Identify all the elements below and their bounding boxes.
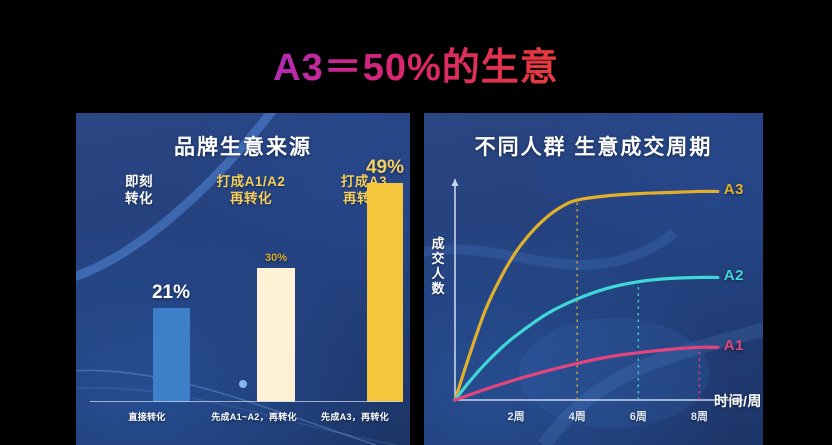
category-header-0: 即刻 转化 [94,173,184,207]
x-tick-2-weeks: 2周 [491,408,541,424]
right-panel-title: 不同人群 生意成交周期 [424,131,763,161]
left-chart-panel: 品牌生意来源 即刻 转化 打成A1/A2 再转化 打成A3 再转化 21% 30… [76,113,410,445]
x-tick-8-weeks: 8周 [674,408,724,424]
x-tick-6-weeks: 6周 [613,408,663,424]
category-header-1: 打成A1/A2 再转化 [186,173,316,207]
x-tick-4-weeks: 4周 [552,408,602,424]
series-label-a2: A2 [724,267,744,284]
y-axis-title: 成 交 人 数 [429,236,447,296]
y-axis-char-2: 人 [429,266,447,281]
y-axis-char-0: 成 [429,236,447,251]
decorative-swoosh-right [424,113,763,445]
right-chart-panel: 不同人群 生意成交周期 [424,113,763,445]
slide-canvas: A3＝50%的生意 品牌生意来源 即刻 转化 打成A1/A2 再转化 打成A3 … [0,0,832,445]
page-title: A3＝50%的生意 [0,36,832,91]
left-chart-baseline [90,401,400,403]
line-chart-plot [424,113,763,445]
series-label-a1: A1 [724,337,744,354]
bar-value-2: 49% [325,157,410,179]
bar-a3-conversion [367,183,403,402]
bar-direct-conversion [153,308,190,402]
y-axis-char-1: 交 [429,251,447,266]
bar-a1-a2-conversion [257,268,295,402]
series-label-a3: A3 [724,181,744,198]
bar-value-1: 30% [216,252,336,264]
x-axis-label-2: 先成A3，再转化 [288,410,410,423]
bar-value-0: 21% [111,282,231,304]
y-axis-char-3: 数 [429,281,447,296]
